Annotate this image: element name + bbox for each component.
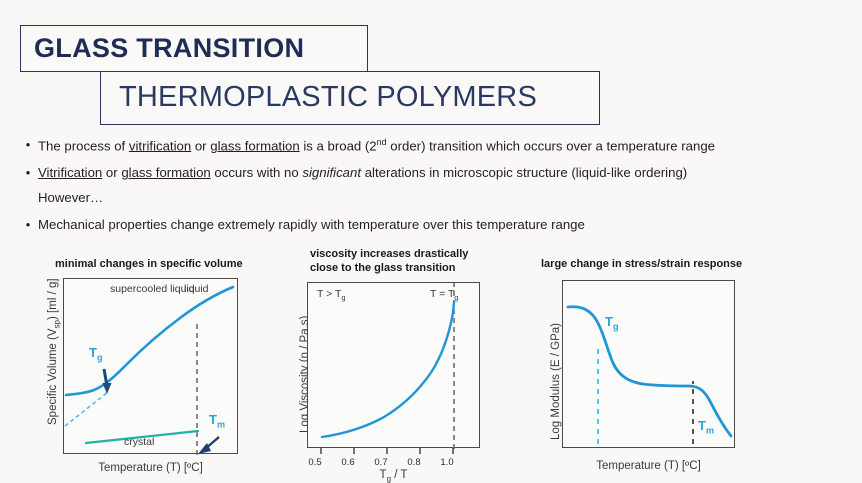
text-segment: or xyxy=(102,165,121,180)
text-segment: significant xyxy=(302,165,361,180)
tg-label-modulus: Tg xyxy=(605,314,619,332)
slide-subtitle: THERMOPLASTIC POLYMERS xyxy=(119,81,537,114)
supercooled-liquid-label: supercooled liquid xyxy=(110,283,190,296)
tm-subscript: m xyxy=(217,420,225,430)
viscosity-curve xyxy=(322,302,454,437)
liquid-label: liquid xyxy=(184,283,209,295)
t-greater-tg-label: T > Tg xyxy=(317,288,346,302)
text-segment: However… xyxy=(38,190,103,205)
figure-viscosity: viscosity increases drastically close to… xyxy=(280,243,515,483)
text-segment: occurs with no xyxy=(211,165,303,180)
bullet-text: Vitrification or glass formation occurs … xyxy=(38,165,687,182)
text-segment: glass formation xyxy=(210,138,299,153)
x-axis-label-post: / T xyxy=(391,469,407,481)
y-axis-label-pre: Specific Volume (V xyxy=(47,328,59,425)
text-segment: Vitrification xyxy=(38,165,102,180)
text-segment: The process of xyxy=(38,138,129,153)
bullet-text: Mechanical properties change extremely r… xyxy=(38,217,585,234)
bullet-marker: • xyxy=(18,137,38,153)
x-tick-1: 0.6 xyxy=(334,457,362,468)
liquid-curve xyxy=(66,287,233,395)
y-axis-label-sub: sp xyxy=(52,320,61,329)
figure-title-viscosity: viscosity increases drastically close to… xyxy=(310,248,510,276)
x-tick-3: 0.8 xyxy=(400,457,428,468)
plot-area-viscosity: T > Tg T = Tg xyxy=(307,282,480,448)
x-axis-label-viscosity: Tg / T xyxy=(307,469,480,483)
bullet-item: •The process of vitrification or glass f… xyxy=(18,137,715,155)
modulus-curve xyxy=(568,307,731,436)
slide-title: GLASS TRANSITION xyxy=(34,33,304,64)
text-segment: glass formation xyxy=(121,165,210,180)
bullet-text: However… xyxy=(38,190,103,205)
x-axis-label-modulus: Temperature (T) [ºC] xyxy=(562,460,735,472)
plot-area-modulus: Tg Tm xyxy=(562,280,735,448)
bullet-list: •The process of vitrification or glass f… xyxy=(18,137,848,237)
text-segment: order) transition which occurs over a te… xyxy=(387,138,715,153)
bullet-marker: • xyxy=(18,217,38,233)
text-segment: is a broad (2 xyxy=(300,138,377,153)
text-line: However… xyxy=(18,190,103,205)
plot-area-specific-volume: supercooled liquid liquid crystal Tg Tm xyxy=(63,278,238,454)
y-axis-label-specific-volume: Specific Volume (Vsp) [ml / g] xyxy=(47,278,61,425)
bullet-item: •Mechanical properties change extremely … xyxy=(18,217,585,234)
tm-subscript: m xyxy=(706,426,714,436)
text-segment: Mechanical properties change extremely r… xyxy=(38,217,585,232)
x-tick-0: 0.5 xyxy=(301,457,329,468)
tg-subscript: g xyxy=(341,293,345,302)
crystal-label: crystal xyxy=(124,436,154,448)
tg-arrow-head xyxy=(103,383,112,394)
y-axis-label-modulus: Log Modulus (E / GPa) xyxy=(550,323,562,440)
t-equals-tg-label: T = Tg xyxy=(430,288,459,302)
bullet-text: The process of vitrification or glass fo… xyxy=(38,137,715,155)
x-axis-label-specific-volume: Temperature (T) [ºC] xyxy=(63,462,238,474)
glass-extrapolation-curve xyxy=(65,392,108,426)
tg-subscript: g xyxy=(97,353,103,363)
plot-svg-viscosity xyxy=(308,283,481,449)
text-segment: or xyxy=(191,138,210,153)
x-tick-4: 1.0 xyxy=(433,457,461,468)
figure-modulus: large change in stress/strain response L… xyxy=(520,250,820,483)
y-axis-label-post: ) [ml / g] xyxy=(47,278,59,320)
tm-label-modulus: Tm xyxy=(698,418,714,436)
figure-title-specific-volume: minimal changes in specific volume xyxy=(55,258,285,272)
tm-label-specific-volume: Tm xyxy=(209,412,225,430)
figure-title-modulus: large change in stress/strain response xyxy=(541,258,791,272)
slide-subtitle-box: THERMOPLASTIC POLYMERS xyxy=(100,71,600,125)
text-segment: vitrification xyxy=(129,138,191,153)
bullet-item: •Vitrification or glass formation occurs… xyxy=(18,165,687,182)
slide-title-box: GLASS TRANSITION xyxy=(20,25,368,72)
tg-label-specific-volume: Tg xyxy=(89,345,103,363)
text-segment: nd xyxy=(377,137,387,147)
figure-specific-volume: minimal changes in specific volume Speci… xyxy=(0,250,290,483)
x-tick-2: 0.7 xyxy=(367,457,395,468)
text-segment: alterations in microscopic structure (li… xyxy=(361,165,687,180)
tg-subscript: g xyxy=(613,322,619,332)
bullet-marker: • xyxy=(18,165,38,181)
x-axis-label-pre: T xyxy=(380,469,387,481)
tg-subscript-2: g xyxy=(454,293,458,302)
